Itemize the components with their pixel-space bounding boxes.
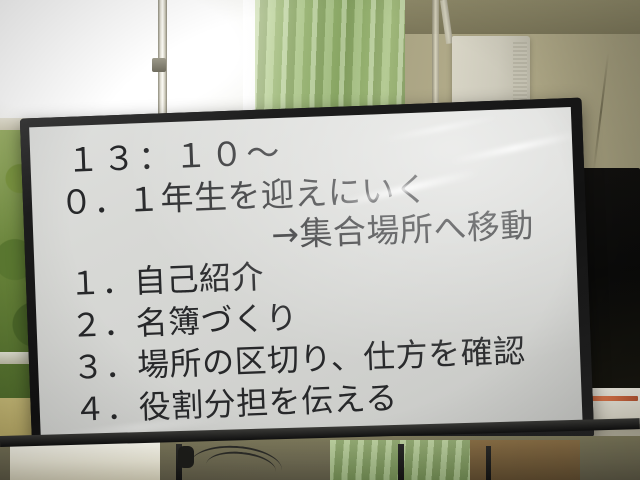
agenda-item-1: １．自己紹介 xyxy=(68,261,264,300)
agenda-item-4: ４．役割分担を伝える xyxy=(73,382,398,426)
agenda-text-block: １３：１０〜 ０．１年生を迎えにいく →集合場所へ移動 １．自己紹介 ２．名簿づ… xyxy=(29,107,583,447)
agenda-time-heading: １３：１０〜 xyxy=(66,136,283,177)
stand-pole-clamp[interactable] xyxy=(152,58,166,72)
display-screen[interactable]: １３：１０〜 ０．１年生を迎えにいく →集合場所へ移動 １．自己紹介 ２．名簿づ… xyxy=(29,107,583,447)
display-stand-leg-right xyxy=(486,446,491,480)
cable-connector xyxy=(178,446,194,468)
photo-scene: １３：１０〜 ０．１年生を迎えにいく →集合場所へ移動 １．自己紹介 ２．名簿づ… xyxy=(0,0,640,480)
agenda-item-2: ２．名簿づくり xyxy=(70,301,299,342)
presentation-display[interactable]: １３：１０〜 ０．１年生を迎えにいく →集合場所へ移動 １．自己紹介 ２．名簿づ… xyxy=(20,98,594,459)
display-stand-leg-center xyxy=(398,444,404,480)
stand-pole-right xyxy=(432,0,439,104)
agenda-arrow-note: →集合場所へ移動 xyxy=(271,208,535,251)
